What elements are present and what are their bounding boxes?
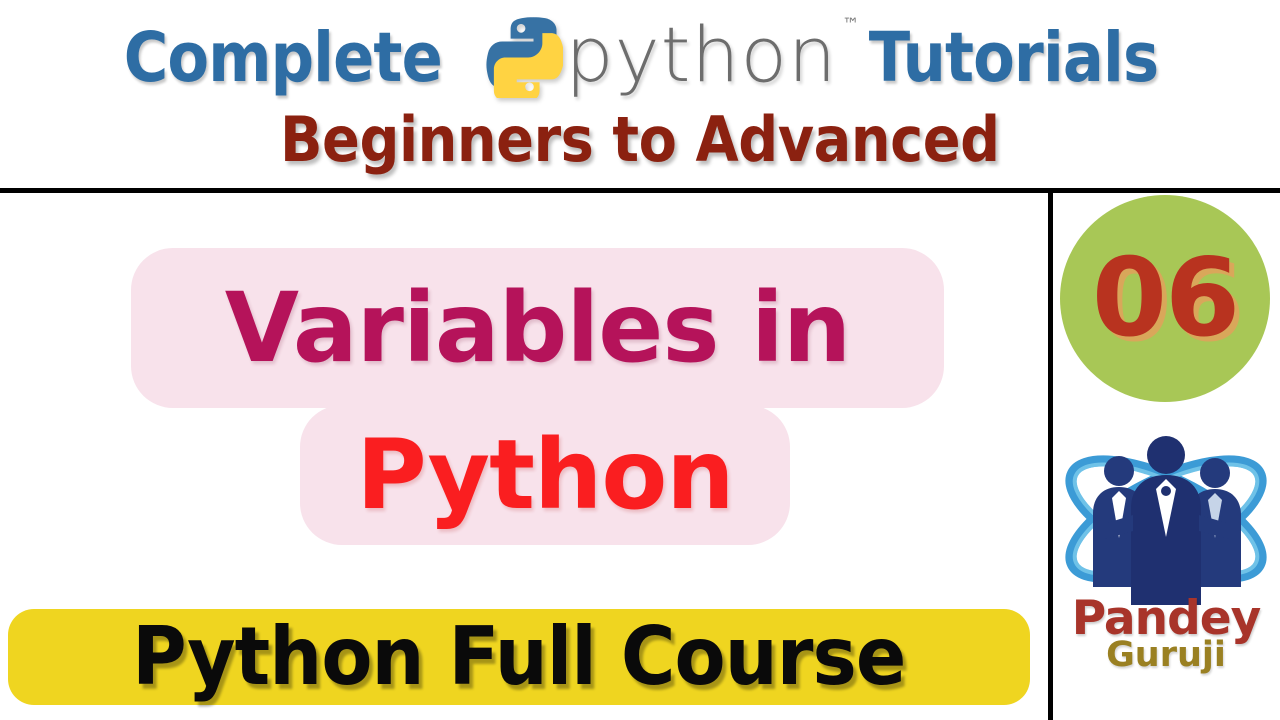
episode-number: 06 [1092,245,1238,353]
header-word-complete: Complete [123,24,441,93]
title-panel-top: Variables in [131,248,944,408]
python-wordmark: python [565,10,837,99]
header-subtitle-row: Beginners to Advanced [0,104,1280,176]
title-panel-bottom: Python [300,405,790,545]
main-content: Variables in Python Python Full Course [0,193,1048,720]
brand-name: Pandey Guruji [1055,597,1277,673]
episode-badge: 06 [1060,195,1270,402]
header-banner: Complete python ™ Tutorials Beginners to… [0,0,1280,189]
brand-logo: Pandey Guruji [1055,419,1277,717]
course-banner: Python Full Course [8,609,1030,705]
lesson-title-line-2: Python [356,427,733,523]
python-wordmark-wrap: python ™ [565,17,837,93]
slide-canvas: Complete python ™ Tutorials Beginners to… [0,0,1280,720]
trademark-symbol: ™ [842,15,859,35]
course-banner-label: Python Full Course [132,617,905,697]
right-sidebar: 06 [1053,193,1280,720]
python-logo-icon [477,12,563,98]
header-word-tutorials: Tutorials [869,24,1158,93]
header-subtitle: Beginners to Advanced [280,109,1000,171]
python-logo: python ™ [477,12,837,98]
lesson-title-block: Variables in Python [0,193,1048,593]
lesson-title-line-1: Variables in [225,280,850,376]
three-businessmen-orbit-icon [1055,419,1277,609]
header-title-row: Complete python ™ Tutorials [0,6,1280,111]
